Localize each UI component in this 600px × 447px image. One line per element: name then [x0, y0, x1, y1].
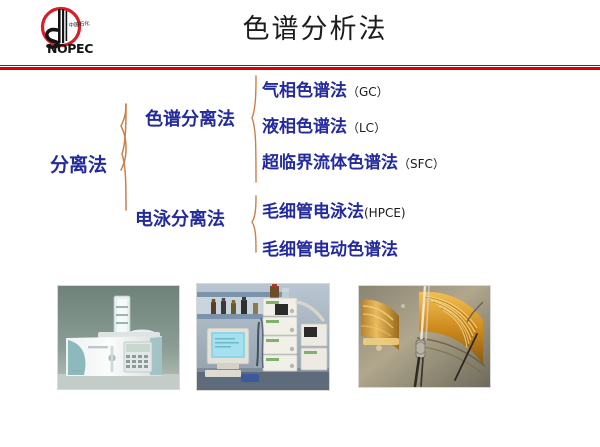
instrument-photo-strip: [0, 283, 600, 395]
tree-leaf-sfc: 超临界流体色谱法（SFC）: [262, 148, 445, 173]
page-title: 色谱分析法: [150, 12, 480, 48]
svg-text:NOPEC: NOPEC: [47, 41, 93, 56]
tree-leaf-sfc-label: 超临界流体色谱法: [262, 153, 398, 173]
brace-chromatography: [243, 74, 261, 186]
tree-leaf-lc-label: 液相色谱法: [262, 117, 347, 137]
tree-branch-electrophoresis: 电泳分离法: [135, 205, 225, 231]
tree-branch-chromatography: 色谱分离法: [145, 105, 235, 131]
tree-leaf-gc-label: 气相色谱法: [262, 81, 347, 101]
tree-leaf-gc-abbr: （GC）: [347, 85, 389, 99]
tree-leaf-hpce-label: 毛细管电泳法: [262, 202, 364, 222]
tree-leaf-meekc: 毛细管电动色谱法: [262, 235, 398, 260]
slide-header: 中国石化 NOPEC 色谱分析法: [0, 0, 600, 60]
capillary-column-photo: [358, 285, 491, 388]
separation-methods-tree: 分离法 色谱分离法 气相色谱法（GC） 液相色谱法（LC） 超临界流体色谱法（S…: [0, 72, 600, 267]
tree-node-root: 分离法: [50, 150, 107, 177]
tree-leaf-hpce-abbr: (HPCE): [364, 206, 406, 220]
tree-leaf-lc: 液相色谱法（LC）: [262, 112, 386, 137]
tree-leaf-hpce: 毛细管电泳法(HPCE): [262, 197, 406, 222]
gas-chromatograph-photo: [57, 285, 180, 390]
tree-leaf-sfc-abbr: （SFC）: [398, 157, 445, 171]
sinopec-logo: 中国石化 NOPEC: [28, 6, 100, 58]
hplc-system-photo: [196, 283, 330, 391]
brace-electrophoresis: [243, 194, 261, 256]
tree-leaf-gc: 气相色谱法（GC）: [262, 76, 389, 101]
brace-root: [112, 102, 132, 222]
header-divider-thick: [0, 67, 600, 70]
header-divider-thin: [0, 65, 600, 66]
tree-leaf-lc-abbr: （LC）: [347, 121, 386, 135]
tree-leaf-meekc-label: 毛细管电动色谱法: [262, 240, 398, 260]
